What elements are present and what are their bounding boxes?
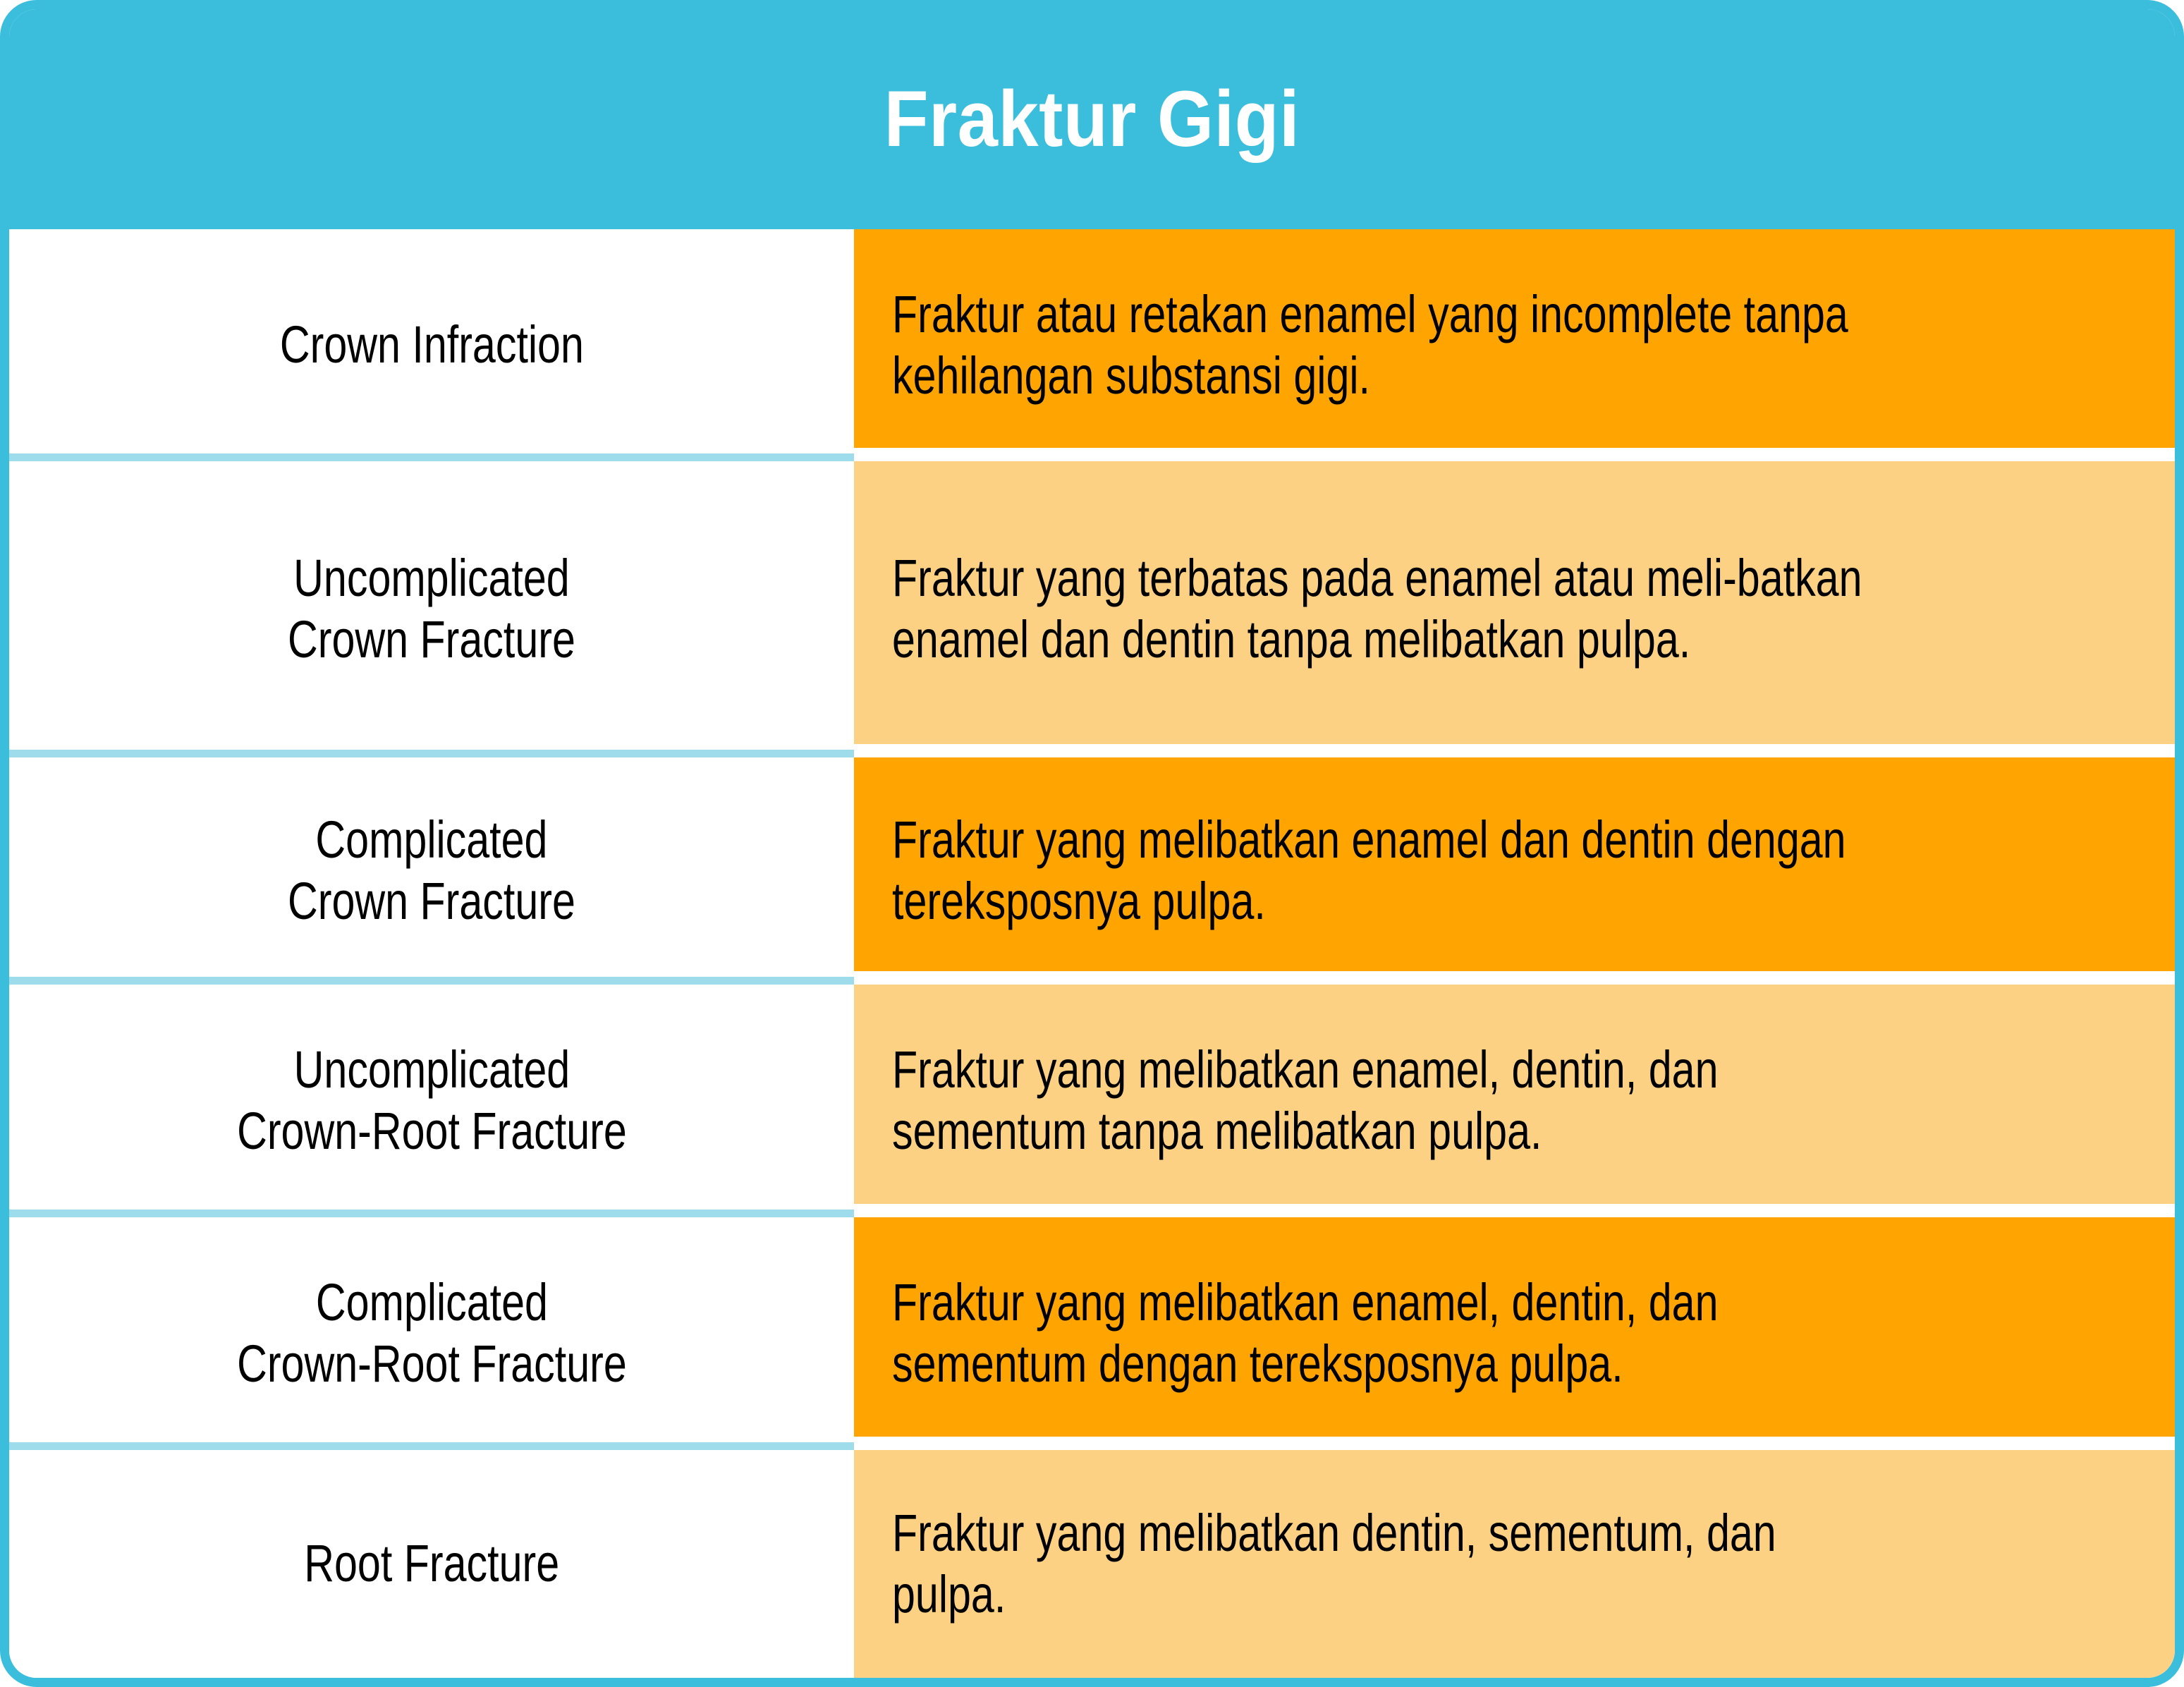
- definition-text: Fraktur yang terbatas pada enamel atau m…: [892, 548, 1918, 670]
- definition-cell: Fraktur yang melibatkan enamel dan denti…: [854, 757, 2175, 985]
- row-divider: [9, 750, 854, 757]
- term-cell: Uncomplicated Crown-Root Fracture: [9, 985, 854, 1217]
- table-row: Root Fracture Fraktur yang melibatkan de…: [9, 1450, 2175, 1678]
- definition-text: Fraktur yang melibatkan enamel, dentin, …: [892, 1272, 1918, 1394]
- table-row: Uncomplicated Crown-Root Fracture Fraktu…: [9, 985, 2175, 1217]
- definition-cell: Fraktur yang melibatkan dentin, sementum…: [854, 1450, 2175, 1678]
- term-label: Root Fracture: [304, 1533, 559, 1595]
- table-header: Fraktur Gigi: [9, 9, 2175, 229]
- table-body: Crown Infraction Fraktur atau retakan en…: [9, 229, 2175, 1678]
- table-row: Uncomplicated Crown Fracture Fraktur yan…: [9, 461, 2175, 757]
- term-label: Crown Infraction: [279, 315, 583, 376]
- definition-text: Fraktur atau retakan enamel yang incompl…: [892, 284, 1918, 406]
- definition-cell: Fraktur yang melibatkan enamel, dentin, …: [854, 985, 2175, 1217]
- term-cell: Complicated Crown-Root Fracture: [9, 1217, 854, 1450]
- row-divider: [9, 1442, 854, 1450]
- row-divider: [9, 977, 854, 985]
- term-label: Uncomplicated Crown-Root Fracture: [237, 1040, 627, 1162]
- definition-text: Fraktur yang melibatkan enamel dan denti…: [892, 810, 1918, 932]
- row-divider: [9, 1210, 854, 1217]
- term-label: Complicated Crown-Root Fracture: [237, 1272, 627, 1394]
- definition-gap: [854, 1204, 2175, 1217]
- table-row: Crown Infraction Fraktur atau retakan en…: [9, 229, 2175, 461]
- term-cell: Crown Infraction: [9, 229, 854, 461]
- definition-gap: [854, 971, 2175, 985]
- definition-gap: [854, 448, 2175, 461]
- term-cell: Uncomplicated Crown Fracture: [9, 461, 854, 757]
- definition-cell: Fraktur yang melibatkan enamel, dentin, …: [854, 1217, 2175, 1450]
- term-label: Uncomplicated Crown Fracture: [288, 548, 575, 670]
- row-divider: [9, 453, 854, 461]
- definition-gap: [854, 744, 2175, 757]
- fracture-table-card: Fraktur Gigi Crown Infraction Fraktur at…: [0, 0, 2184, 1687]
- table-row: Complicated Crown Fracture Fraktur yang …: [9, 757, 2175, 985]
- term-label: Complicated Crown Fracture: [288, 810, 575, 932]
- definition-text: Fraktur yang melibatkan dentin, sementum…: [892, 1503, 1918, 1625]
- page-title: Fraktur Gigi: [884, 80, 1300, 159]
- table-row: Complicated Crown-Root Fracture Fraktur …: [9, 1217, 2175, 1450]
- term-cell: Root Fracture: [9, 1450, 854, 1678]
- definition-gap: [854, 1437, 2175, 1450]
- term-cell: Complicated Crown Fracture: [9, 757, 854, 985]
- definition-cell: Fraktur yang terbatas pada enamel atau m…: [854, 461, 2175, 757]
- definition-text: Fraktur yang melibatkan enamel, dentin, …: [892, 1040, 1918, 1162]
- definition-cell: Fraktur atau retakan enamel yang incompl…: [854, 229, 2175, 461]
